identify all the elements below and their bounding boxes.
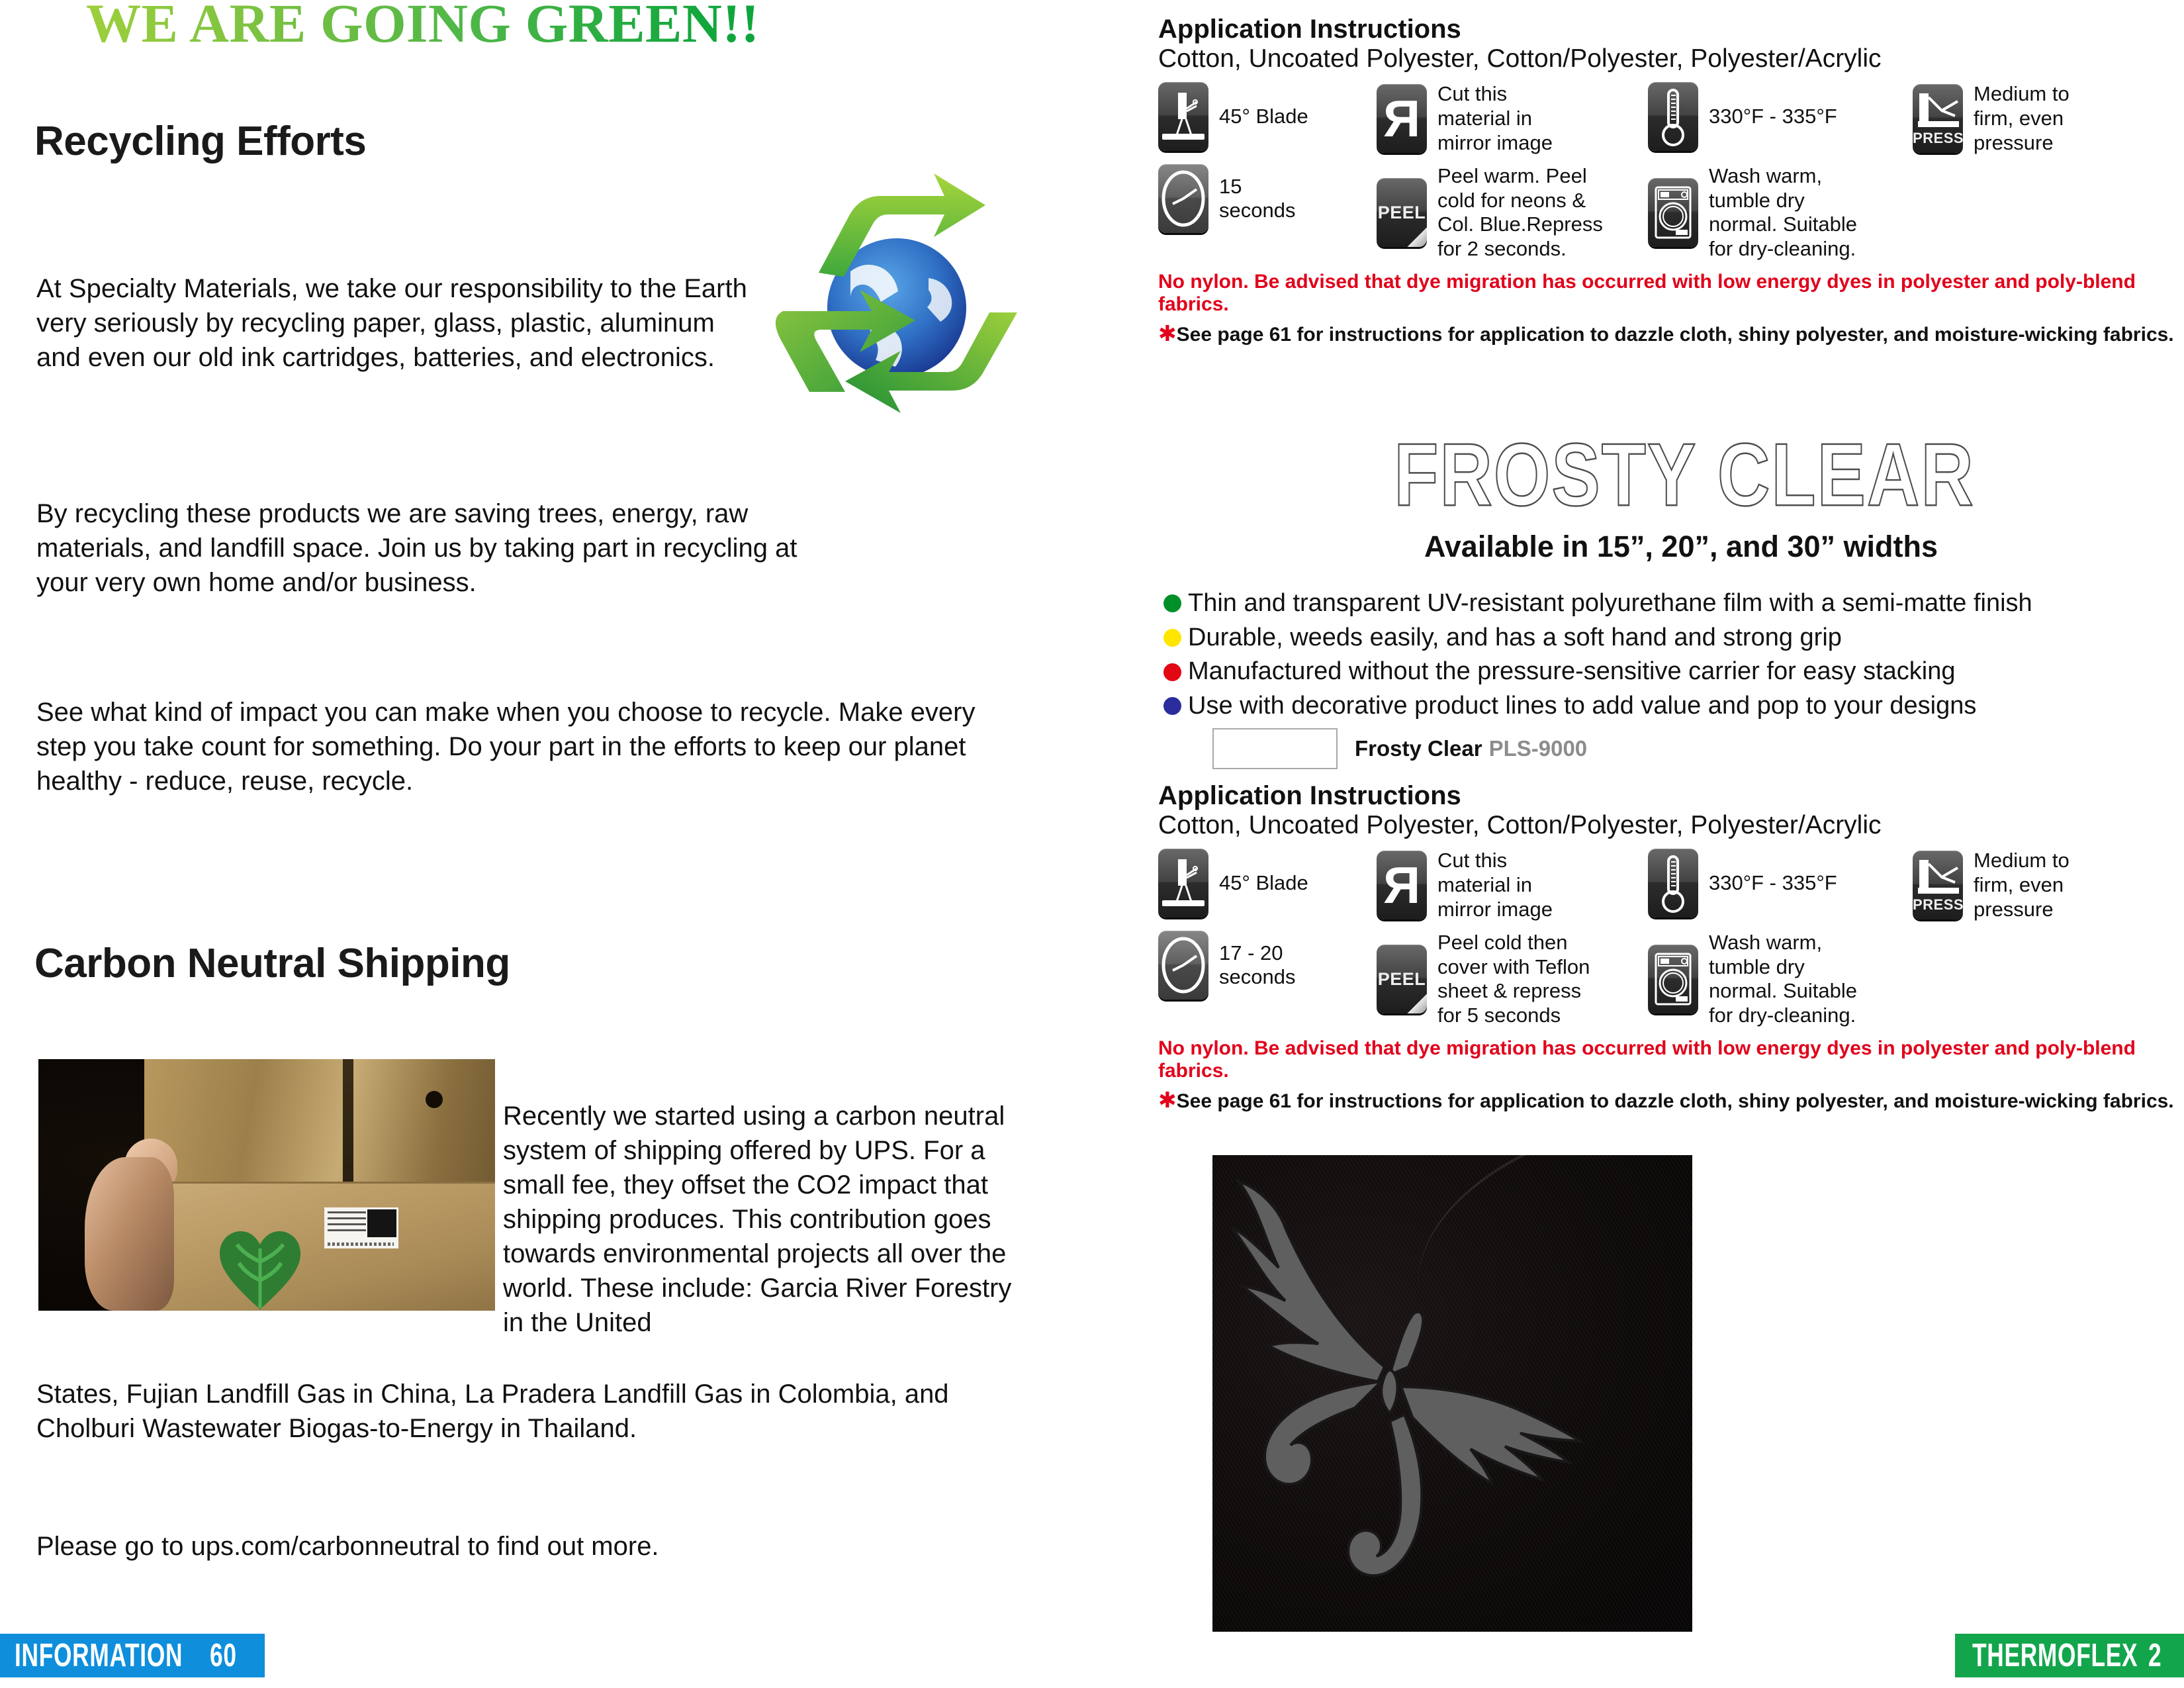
- frosty-clear-feature-list: Thin and transparent UV-resistant polyur…: [1163, 589, 2183, 726]
- going-green-banner: WE ARE GOING GREEN!!: [86, 0, 1026, 51]
- washing-machine-icon: [1648, 178, 1698, 247]
- footer-thermoflex-bar: THERMOFLEX 2: [1955, 1634, 2184, 1677]
- app1-wash-item: Wash warm, tumble dry normal. Suitable f…: [1648, 164, 1857, 261]
- app2-pressure-label: Medium to firm, even pressure: [1974, 849, 2070, 921]
- app2-temperature-item: 330°F - 335°F: [1648, 849, 1913, 917]
- app1-title: Application Instructions: [1158, 15, 2184, 44]
- app2-time-label: 17 - 20 seconds: [1219, 941, 1295, 990]
- list-item: Thin and transparent UV-resistant polyur…: [1163, 589, 2183, 618]
- footer-information-bar: INFORMATION 60: [0, 1634, 265, 1677]
- app1-time-item: 15 seconds: [1158, 164, 1377, 233]
- mirror-image-icon: R: [1377, 84, 1427, 153]
- washing-machine-icon: [1648, 945, 1698, 1013]
- right-column: Application Instructions Cotton, Uncoate…: [1158, 0, 2184, 1688]
- bullet-dot-red: [1163, 663, 1181, 681]
- list-item: Manufactured without the pressure-sensit…: [1163, 657, 2183, 686]
- app1-blade-label: 45° Blade: [1219, 105, 1308, 129]
- butterfly-graphic: [1219, 1168, 1590, 1618]
- carbon-neutral-shipping-heading: Carbon Neutral Shipping: [34, 940, 510, 987]
- app2-note-text: ✱See page 61 for instructions for applic…: [1158, 1088, 2184, 1113]
- app1-mirror-item: R Cut this material in mirror image: [1377, 82, 1648, 155]
- press-icon-label: PRESS: [1913, 896, 1963, 914]
- bullet-dot-blue: [1163, 697, 1181, 715]
- app2-wash-item: Wash warm, tumble dry normal. Suitable f…: [1648, 931, 1857, 1027]
- app2-title: Application Instructions: [1158, 781, 2184, 811]
- frosty-clear-title: FROSTY CLEAR: [1271, 424, 2098, 526]
- clock-icon: [1158, 931, 1208, 1000]
- recycling-globe-icon: [771, 159, 1023, 450]
- app2-note-body: See page 61 for instructions for applica…: [1177, 1090, 2174, 1112]
- swatch-name: Frosty Clear: [1355, 736, 1482, 761]
- feature-text: Thin and transparent UV-resistant polyur…: [1188, 589, 2032, 618]
- frosty-clear-availability: Available in 15”, 20”, and 30” widths: [1224, 530, 2138, 564]
- press-icon: PRESS: [1913, 851, 1963, 919]
- app2-peel-label: Peel cold then cover with Teflon sheet &…: [1437, 931, 1590, 1027]
- press-icon: PRESS: [1913, 84, 1963, 153]
- footer-thermoflex-label: THERMOFLEX: [1972, 1637, 2138, 1674]
- app1-icon-grid: 45° Blade R Cut this material in mirror …: [1158, 82, 2184, 261]
- thermometer-icon: [1648, 849, 1698, 917]
- app2-warning-text: No nylon. Be advised that dye migration …: [1158, 1037, 2184, 1084]
- list-item: Use with decorative product lines to add…: [1163, 692, 2183, 721]
- feature-text: Use with decorative product lines to add…: [1188, 692, 1976, 721]
- list-item: Durable, weeds easily, and has a soft ha…: [1163, 624, 2183, 653]
- app2-peel-item: PEEL Peel cold then cover with Teflon sh…: [1377, 931, 1648, 1027]
- footer-thermoflex-page: 2: [2148, 1637, 2161, 1674]
- app1-blade-item: 45° Blade: [1158, 82, 1377, 151]
- ups-carbon-neutral-box-photo: [38, 1059, 495, 1311]
- frosty-clear-swatch-row: Frosty Clear PLS-9000: [1212, 728, 1587, 769]
- peel-icon: PEEL: [1377, 178, 1427, 247]
- app2-pressure-item: PRESS Medium to firm, even pressure: [1913, 849, 2070, 921]
- app2-wash-label: Wash warm, tumble dry normal. Suitable f…: [1709, 931, 1857, 1027]
- app1-note-text: ✱See page 61 for instructions for applic…: [1158, 321, 2184, 347]
- footer-information-page: 60: [210, 1637, 237, 1674]
- app1-note-body: See page 61 for instructions for applica…: [1177, 324, 2174, 346]
- feature-text: Manufactured without the pressure-sensit…: [1188, 657, 1956, 686]
- swatch-code: PLS-9000: [1489, 736, 1588, 761]
- color-swatch: [1212, 728, 1338, 769]
- app1-time-label: 15 seconds: [1219, 175, 1295, 223]
- app2-time-item: 17 - 20 seconds: [1158, 931, 1377, 1000]
- bullet-dot-yellow: [1163, 629, 1181, 647]
- app2-subtitle: Cotton, Uncoated Polyester, Cotton/Polye…: [1158, 811, 2184, 840]
- app1-wash-label: Wash warm, tumble dry normal. Suitable f…: [1709, 164, 1857, 261]
- carbon-paragraph-1-continued: States, Fujian Landfill Gas in China, La…: [36, 1377, 1016, 1446]
- app2-mirror-item: R Cut this material in mirror image: [1377, 849, 1648, 921]
- feature-text: Durable, weeds easily, and has a soft ha…: [1188, 624, 1842, 653]
- carbon-paragraph-2: Please go to ups.com/carbonneutral to fi…: [36, 1529, 897, 1564]
- app1-pressure-item: PRESS Medium to firm, even pressure: [1913, 82, 2070, 155]
- app2-icon-grid: 45° Blade R Cut this material in mirror …: [1158, 849, 2184, 1027]
- application-instructions-block-2: Application Instructions Cotton, Uncoate…: [1158, 781, 2184, 1113]
- app1-mirror-label: Cut this material in mirror image: [1437, 82, 1553, 155]
- blade-icon: [1158, 849, 1208, 917]
- carbon-paragraph-1: Recently we started using a carbon neutr…: [503, 1099, 1032, 1340]
- frosty-clear-butterfly-sample-photo: [1212, 1155, 1692, 1632]
- app1-warning-text: No nylon. Be advised that dye migration …: [1158, 271, 2184, 317]
- footer-information-label: INFORMATION: [15, 1637, 183, 1674]
- application-instructions-block-1: Application Instructions Cotton, Uncoate…: [1158, 15, 2184, 347]
- app1-temperature-item: 330°F - 335°F: [1648, 82, 1913, 151]
- press-icon-label: PRESS: [1913, 130, 1963, 147]
- catalog-page: WE ARE GOING GREEN!! Recycling Efforts A…: [0, 0, 2184, 1688]
- recycling-paragraph-1: At Specialty Materials, we take our resp…: [36, 271, 764, 375]
- app2-blade-label: 45° Blade: [1219, 871, 1308, 896]
- blade-icon: [1158, 82, 1208, 151]
- recycling-paragraph-3: See what kind of impact you can make whe…: [36, 695, 1016, 798]
- carbon-neutral-shipment-label: [324, 1207, 398, 1248]
- app1-peel-label: Peel warm. Peel cold for neons & Col. Bl…: [1437, 164, 1603, 261]
- thermometer-icon: [1648, 82, 1698, 151]
- clock-icon: [1158, 164, 1208, 233]
- app2-blade-item: 45° Blade: [1158, 849, 1377, 917]
- recycling-paragraph-2: By recycling these products we are savin…: [36, 496, 837, 600]
- note-star-icon: ✱: [1158, 321, 1177, 346]
- mirror-image-icon: R: [1377, 851, 1427, 919]
- app2-mirror-label: Cut this material in mirror image: [1437, 849, 1553, 921]
- left-column: WE ARE GOING GREEN!! Recycling Efforts A…: [0, 0, 1092, 1688]
- peel-icon: PEEL: [1377, 945, 1427, 1013]
- app2-temperature-label: 330°F - 335°F: [1709, 871, 1837, 896]
- green-heart-leaf-icon: [217, 1230, 303, 1311]
- app1-temperature-label: 330°F - 335°F: [1709, 105, 1837, 129]
- recycling-efforts-heading: Recycling Efforts: [34, 118, 366, 165]
- app1-peel-item: PEEL Peel warm. Peel cold for neons & Co…: [1377, 164, 1648, 261]
- note-star-icon: ✱: [1158, 1088, 1177, 1112]
- bullet-dot-green: [1163, 594, 1181, 612]
- app1-subtitle: Cotton, Uncoated Polyester, Cotton/Polye…: [1158, 44, 2184, 73]
- app1-pressure-label: Medium to firm, even pressure: [1974, 82, 2070, 155]
